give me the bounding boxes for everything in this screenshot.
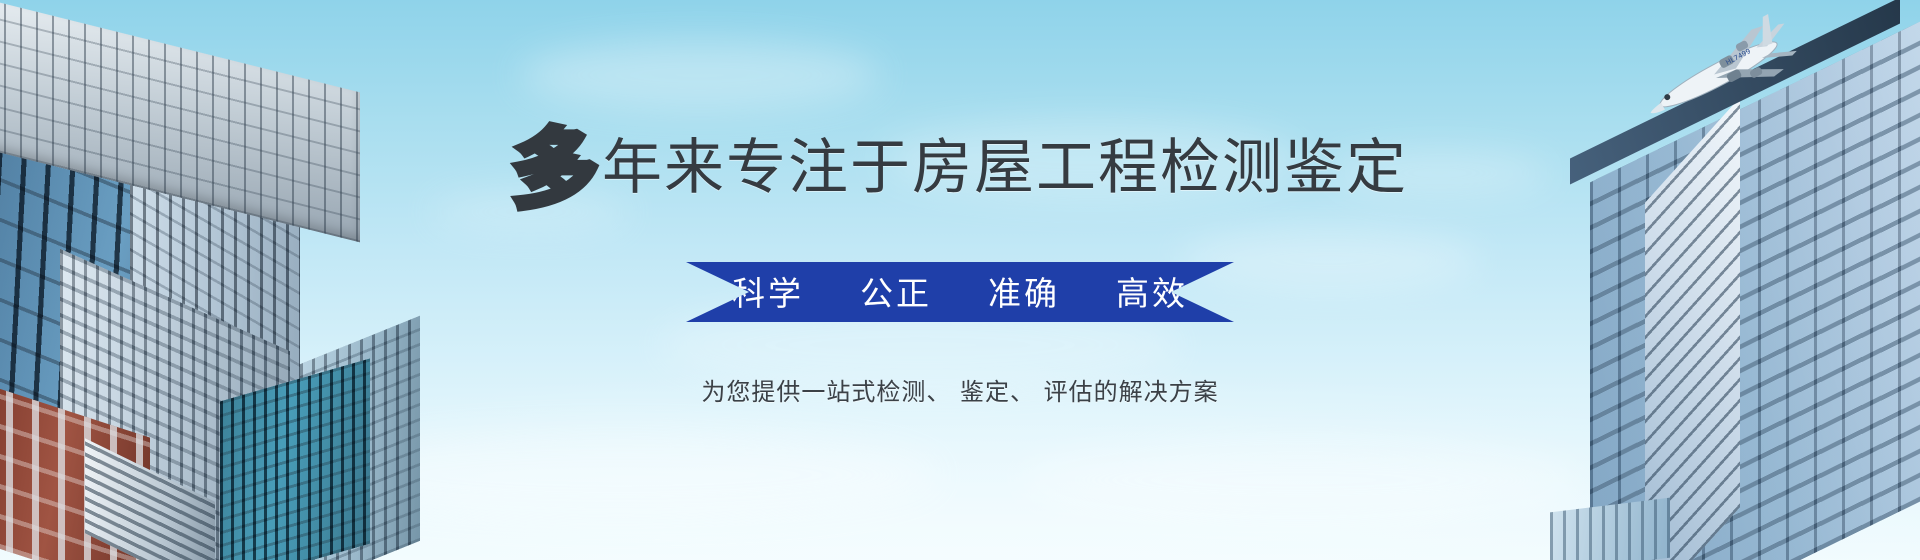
ribbon-shape: 科学 公正 准确 高效: [686, 262, 1234, 322]
headline-text: 年来专注于房屋工程检测鉴定: [602, 138, 1408, 198]
brand-logo-character: 多: [512, 127, 598, 213]
hero-banner: HL7499 多 年来专注于房屋工程检测鉴定 科学 公正 准确 高效 为您提供一…: [0, 0, 1920, 560]
subtitle-text: 为您提供一站式检测、 鉴定、 评估的解决方案: [0, 372, 1920, 407]
ribbon-word-1: 科学: [732, 267, 804, 315]
headline: 多 年来专注于房屋工程检测鉴定: [0, 122, 1920, 214]
ribbon-word-2: 公正: [860, 267, 932, 315]
ribbon-word-4: 高效: [1116, 267, 1188, 315]
ribbon-word-3: 准确: [988, 267, 1060, 315]
background-building: [1550, 498, 1670, 560]
ribbon-word-list: 科学 公正 准确 高效: [732, 267, 1188, 315]
cloud-icon: [520, 40, 880, 110]
ribbon-banner: 科学 公正 准确 高效: [0, 262, 1920, 322]
window-grid: [1550, 498, 1670, 560]
